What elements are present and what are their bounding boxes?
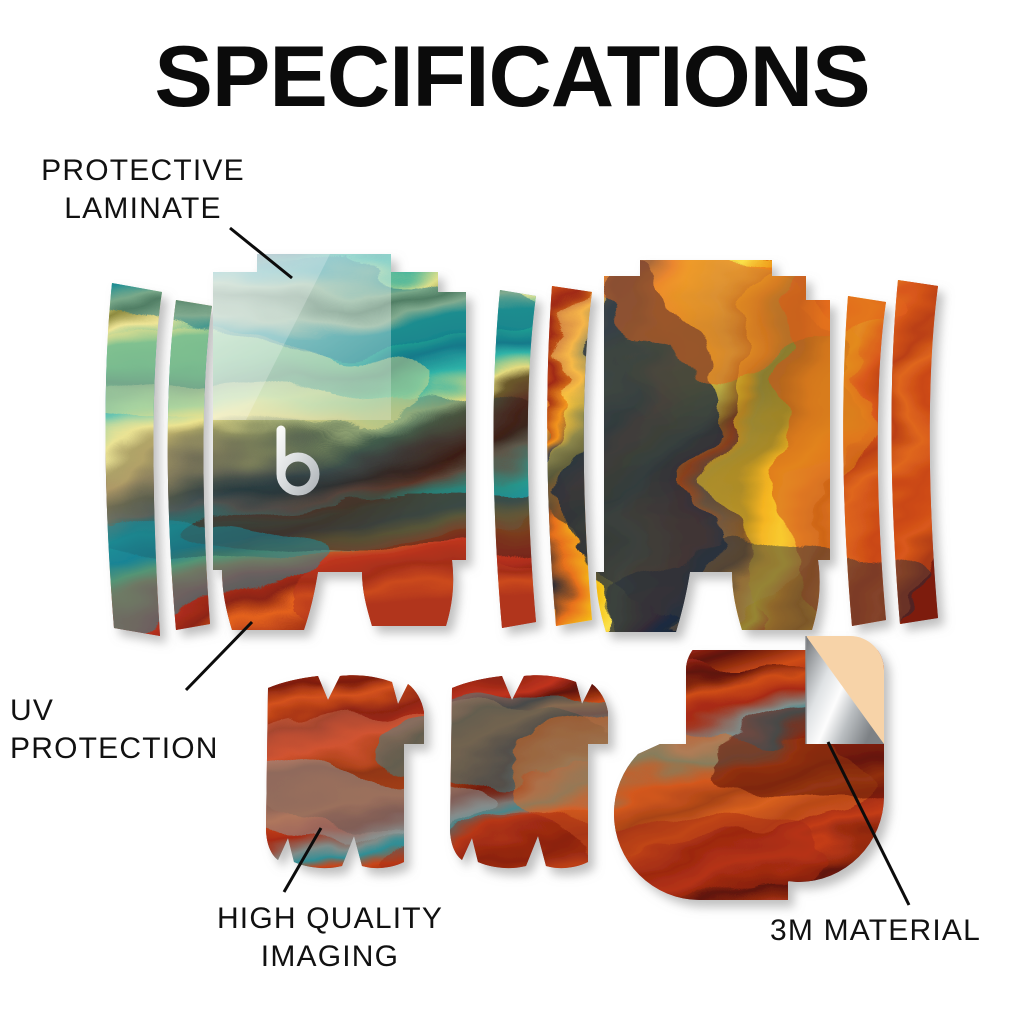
callout-protective-laminate: PROTECTIVE LAMINATE	[18, 152, 268, 228]
leader-high-quality-imaging	[284, 828, 321, 892]
leader-uv-protection	[186, 622, 252, 690]
callout-3m-material: 3M MATERIAL	[770, 912, 1024, 950]
leader-protective-laminate	[230, 228, 292, 278]
leader-3m-material	[828, 742, 909, 905]
callout-high-quality-imaging: HIGH QUALITY IMAGING	[190, 900, 470, 976]
specifications-graphic: SPECIFICATIONS	[0, 0, 1024, 1024]
callout-uv-protection: UV PROTECTION	[10, 692, 270, 768]
